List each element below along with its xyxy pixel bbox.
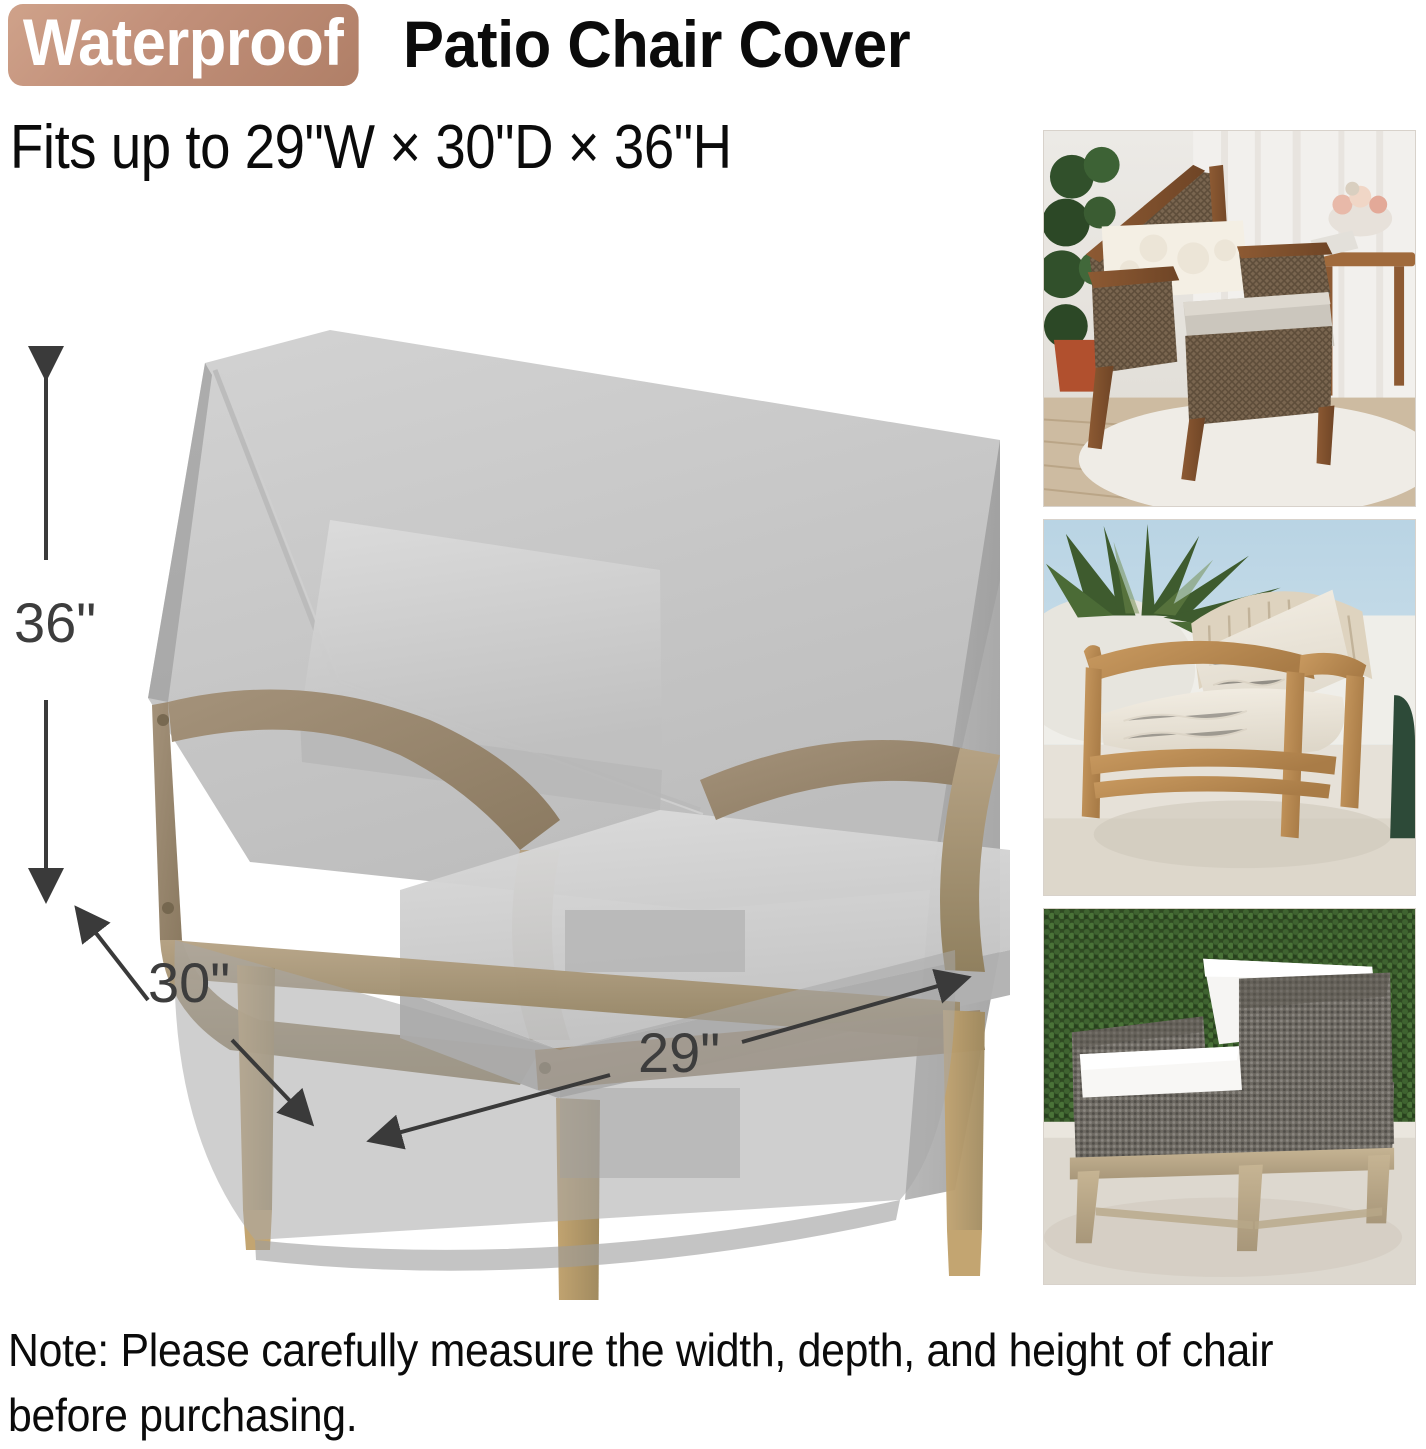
lifestyle-photo-3 xyxy=(1043,908,1416,1285)
waterproof-badge: Waterproof xyxy=(8,4,358,86)
fits-up-to-subtitle: Fits up to 29"W × 30"D × 36"H xyxy=(10,112,732,183)
page-title: Patio Chair Cover xyxy=(403,8,910,82)
note-text: Note: Please carefully measure the width… xyxy=(8,1318,1319,1449)
lifestyle-photo-1 xyxy=(1043,130,1416,507)
header: Waterproof Patio Chair Cover Fits up to … xyxy=(0,0,1130,200)
lifestyle-photo-2 xyxy=(1043,519,1416,896)
width-dimension-label: 29" xyxy=(638,1020,720,1085)
title-row: Waterproof Patio Chair Cover xyxy=(8,4,948,86)
depth-dimension-label: 30" xyxy=(148,950,230,1015)
chair-cover-illustration xyxy=(0,250,1010,1300)
product-infographic: Waterproof Patio Chair Cover Fits up to … xyxy=(0,0,1426,1427)
height-dimension-label: 36" xyxy=(14,590,96,655)
lifestyle-photo-column xyxy=(1043,130,1416,1297)
